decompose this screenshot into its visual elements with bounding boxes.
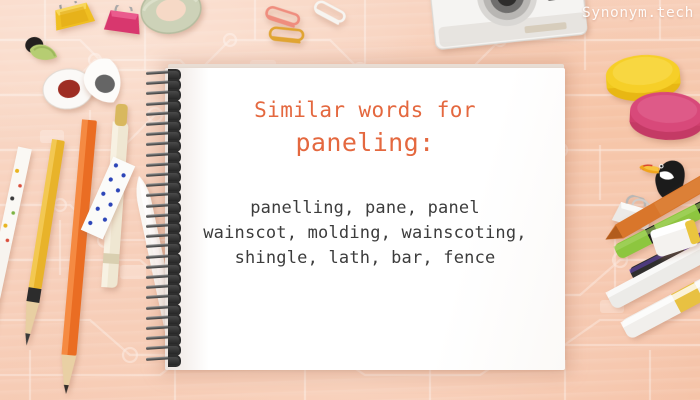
notepad-content: Similar words for paneling: panelling, p… — [165, 68, 565, 370]
heading-prefix: Similar words for — [165, 98, 565, 122]
synonym-line: shingle, lath, bar, fence — [165, 246, 565, 271]
synonym-line: wainscot, molding, wainscoting, — [165, 221, 565, 246]
synonym-list: panelling, pane, panelwainscot, molding,… — [165, 196, 565, 271]
green-bird-eraser — [20, 32, 64, 67]
search-term: paneling: — [165, 128, 565, 157]
brand-logo[interactable]: Synonym.tech — [582, 5, 694, 21]
synonym-line: panelling, pane, panel — [165, 196, 565, 221]
pink-macaron — [627, 82, 700, 144]
desk-scene: Similar words for paneling: panelling, p… — [0, 0, 700, 400]
